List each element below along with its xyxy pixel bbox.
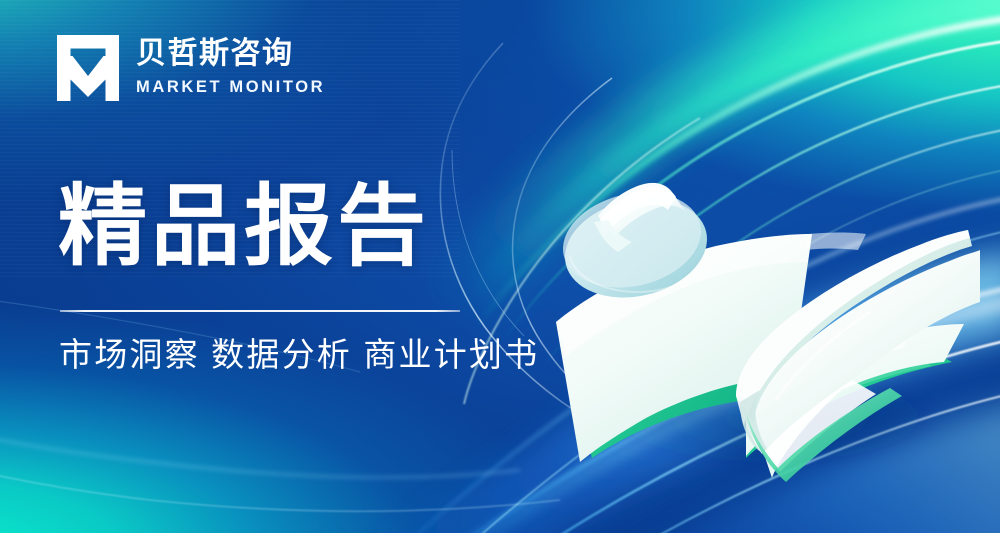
brand-name-cn: 贝哲斯咨询 — [136, 38, 325, 70]
m-bracket-logo-icon — [57, 35, 119, 101]
logo-text-block: 贝哲斯咨询 MARKET MONITOR — [136, 38, 325, 97]
report-banner: 贝哲斯咨询 MARKET MONITOR 精品报告 市场洞察 数据分析 商业计划… — [0, 0, 1000, 533]
brand-logo[interactable]: 贝哲斯咨询 MARKET MONITOR — [57, 35, 325, 101]
subtitle: 市场洞察 数据分析 商业计划书 — [59, 333, 539, 378]
brand-name-en: MARKET MONITOR — [136, 78, 325, 98]
title-divider — [60, 310, 460, 312]
page-title: 精品报告 — [58, 178, 430, 274]
